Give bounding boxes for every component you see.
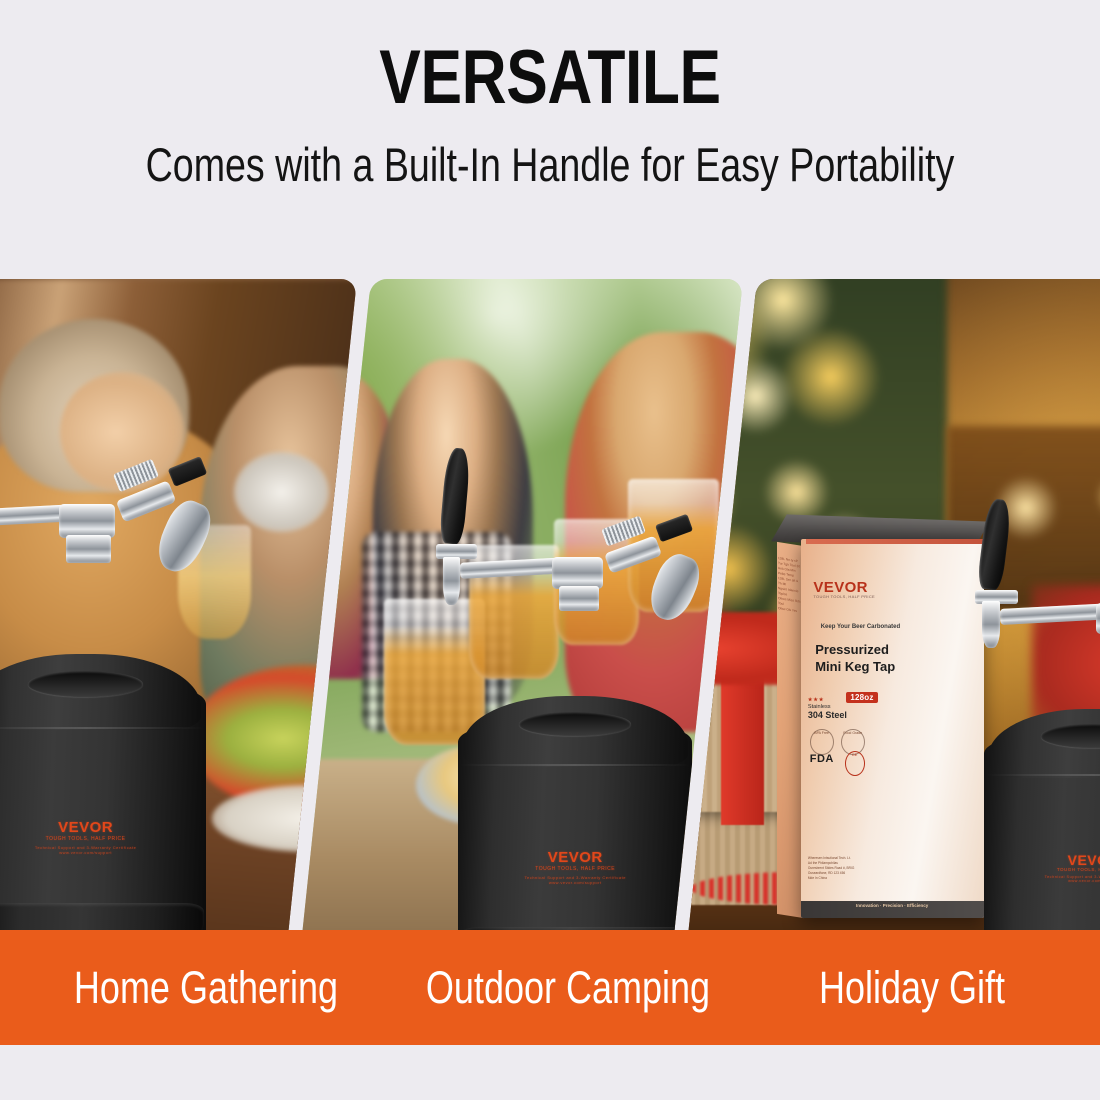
box-brand-text: VEVOR	[813, 580, 926, 595]
bpa-free-icon: BPA Free	[810, 729, 834, 756]
keg-seam	[460, 764, 689, 766]
co2-cartridge	[643, 549, 706, 627]
scene-holiday-gift: VEVOR TOUGH TOOLS, HALF PRICE Keep Your …	[687, 279, 1100, 945]
box-title-line-2: Mini Keg Tap	[815, 658, 939, 675]
box-spec-value: 304 Steel	[808, 710, 847, 720]
tap-neck	[66, 535, 111, 563]
header-section: VERSATILE Comes with a Built-In Handle f…	[0, 0, 1100, 279]
use-case-banner: Home Gathering Outdoor Camping Holiday G…	[0, 930, 1100, 1045]
keg-fine-line-2: www.vevor.com/support	[984, 879, 1100, 883]
tap-body	[552, 557, 603, 589]
tap-neck	[559, 586, 600, 612]
box-subhead: Keep Your Beer Carbonated	[821, 624, 942, 630]
tap-arm	[1000, 603, 1100, 625]
keg-branding: VEVOR TOUGH TOOLS, HALF PRICE Technical …	[458, 850, 692, 885]
keg-branding: VEVOR TOUGH TOOLS, HALF PRICE Technical …	[984, 853, 1100, 884]
tap-body	[1096, 603, 1100, 634]
box-title: Pressurized Mini Keg Tap	[815, 641, 939, 675]
keg-brand-text: VEVOR	[0, 820, 206, 836]
photo-panel-holiday-gift[interactable]: VEVOR TOUGH TOOLS, HALF PRICE Keep Your …	[687, 279, 1100, 945]
keg-tagline: TOUGH TOOLS, HALF PRICE	[458, 866, 692, 872]
box-foot-line-5: Mde In China	[808, 876, 856, 881]
banner-label-outdoor-camping: Outdoor Camping	[413, 964, 723, 1012]
page-title: VERSATILE	[99, 40, 1001, 116]
box-top-red-stripe	[806, 539, 984, 545]
mini-keg-product: VEVOR TOUGH TOOLS, HALF PRICE Technical …	[984, 659, 1100, 945]
keg-branding: VEVOR TOUGH TOOLS, HALF PRICE Technical …	[0, 820, 206, 855]
keg-tagline: TOUGH TOOLS, HALF PRICE	[0, 836, 206, 842]
box-bottom-tagline: Innovation · Precision · Efficiency	[801, 901, 984, 918]
box-side-spec-list: 128L No.ty sP Tur Tgh Tool 30 Hok Ola Mi…	[778, 556, 803, 614]
mini-keg-product: VEVOR TOUGH TOOLS, HALF PRICE Technical …	[0, 599, 206, 945]
mini-keg-product: VEVOR TOUGH TOOLS, HALF PRICE Technical …	[458, 645, 692, 945]
tap-spout	[443, 557, 460, 605]
keg-brand-text: VEVOR	[984, 853, 1100, 868]
photo-panel-home-gathering[interactable]: VEVOR TOUGH TOOLS, HALF PRICE Technical …	[0, 279, 357, 945]
keg-brand-text: VEVOR	[458, 850, 692, 866]
keg-fine-line-2: www.vevor.com/support	[458, 880, 692, 885]
keg-tagline: TOUGH TOOLS, HALF PRICE	[984, 867, 1100, 872]
banner-label-holiday-gift: Holiday Gift	[792, 964, 1032, 1012]
regulator-black-knob	[168, 456, 207, 487]
box-title-line-1: Pressurized	[815, 641, 939, 658]
page-subtitle: Comes with a Built-In Handle for Easy Po…	[110, 139, 990, 191]
co2-cartridge	[150, 495, 218, 578]
banner-label-row: Home Gathering Outdoor Camping Holiday G…	[0, 930, 1100, 1045]
keg-seam	[0, 727, 204, 729]
banner-label-home-gathering: Home Gathering	[72, 964, 341, 1012]
scene-outdoor-camping: VEVOR TOUGH TOOLS, HALF PRICE Technical …	[301, 279, 743, 945]
scene-home-gathering: VEVOR TOUGH TOOLS, HALF PRICE Technical …	[0, 279, 357, 945]
box-brand: VEVOR TOUGH TOOLS, HALF PRICE	[813, 580, 926, 599]
box-manufacturer-info: Wheresen Intsutional Tech. Lt. Ad the Ph…	[808, 856, 856, 880]
photo-panel-outdoor-camping[interactable]: VEVOR TOUGH TOOLS, HALF PRICE Technical …	[301, 279, 743, 945]
box-capacity-badge: 128oz	[846, 692, 877, 703]
fda-certification: FDA	[810, 753, 834, 765]
keg-fine-line-2: www.vevor.com/support	[0, 850, 206, 855]
ce-badge-icon: CE	[845, 751, 865, 776]
box-brand-tagline: TOUGH TOOLS, HALF PRICE	[813, 595, 926, 599]
box-material-spec: ★★★ Stainless 304 Steel	[808, 698, 848, 721]
keg-seam	[986, 774, 1100, 776]
tap-body	[59, 504, 115, 539]
tap-spout	[982, 601, 1000, 648]
